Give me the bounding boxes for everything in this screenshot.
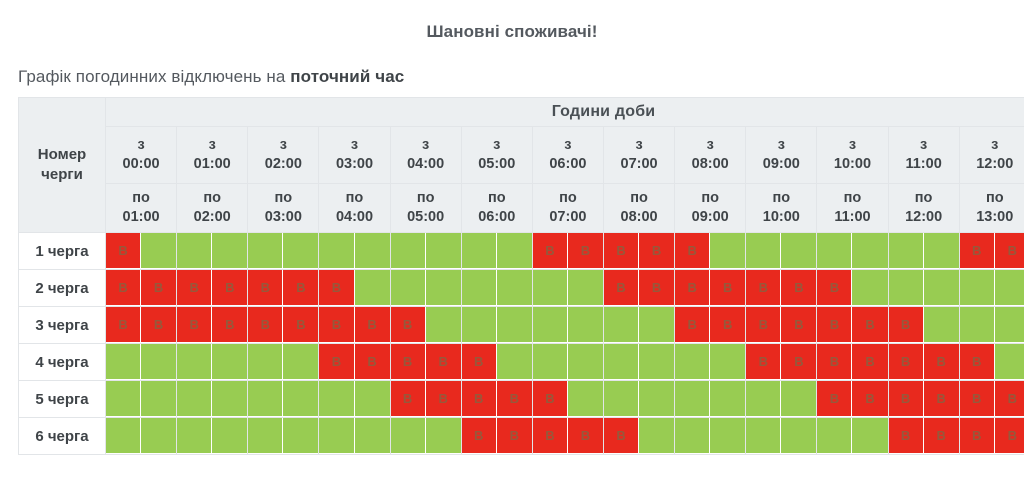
power-on-half-hour-cell[interactable] (639, 418, 674, 454)
hour-cell-q6-h1[interactable] (177, 418, 248, 455)
hour-cell-q4-h3[interactable]: ВВ (319, 344, 390, 381)
half-hour-group (533, 344, 603, 380)
outage-half-hour-cell[interactable]: В (391, 344, 426, 380)
power-on-half-hour-cell[interactable] (781, 418, 816, 454)
hour-cell-q1-h5[interactable] (461, 233, 532, 270)
hour-cell-q5-h10[interactable]: ВВ (817, 381, 888, 418)
hour-cell-q2-h0[interactable]: ВВ (106, 270, 177, 307)
half-hour-group: ВВ (960, 381, 1024, 417)
power-on-half-hour-cell[interactable] (106, 344, 141, 380)
hour-cell-q6-h9[interactable] (746, 418, 817, 455)
outage-half-hour-cell[interactable]: В (781, 307, 816, 343)
hour-cell-q2-h5[interactable] (461, 270, 532, 307)
hour-cell-q5-h1[interactable] (177, 381, 248, 418)
power-on-half-hour-cell[interactable] (391, 270, 426, 306)
power-on-half-hour-cell[interactable] (177, 233, 212, 269)
hour-to-header-11: по12:00 (888, 184, 959, 233)
hour-cell-q6-h12[interactable]: ВВ (959, 418, 1024, 455)
outage-half-hour-cell[interactable]: В (106, 307, 141, 343)
hour-cell-q2-h6[interactable] (532, 270, 603, 307)
power-on-half-hour-cell[interactable] (283, 344, 318, 380)
half-hour-group: ВВ (746, 307, 816, 343)
power-on-half-hour-cell[interactable] (710, 344, 745, 380)
hour-cell-q5-h11[interactable]: ВВ (888, 381, 959, 418)
half-hour-group: ВВ (960, 233, 1024, 269)
to-time: 12:00 (889, 208, 959, 227)
hour-cell-q3-h12[interactable] (959, 307, 1024, 344)
hour-cell-q3-h7[interactable] (603, 307, 674, 344)
half-hour-group: ВВ (817, 307, 887, 343)
outage-half-hour-cell[interactable]: В (426, 344, 461, 380)
hour-cell-q5-h2[interactable] (248, 381, 319, 418)
hour-cell-q1-h11[interactable] (888, 233, 959, 270)
outage-half-hour-cell[interactable]: В (960, 233, 995, 269)
hour-cell-q2-h12[interactable] (959, 270, 1024, 307)
outage-half-hour-cell[interactable]: В (604, 233, 639, 269)
hour-from-header-7: з07:00 (603, 127, 674, 184)
hour-cell-q5-h3[interactable] (319, 381, 390, 418)
outage-half-hour-cell[interactable]: В (889, 381, 924, 417)
half-hour-group: В (889, 307, 959, 343)
power-on-half-hour-cell[interactable] (212, 344, 247, 380)
power-on-half-hour-cell[interactable] (426, 307, 461, 343)
outage-half-hour-cell[interactable]: В (817, 307, 852, 343)
half-hour-group (889, 270, 959, 306)
hour-cell-q1-h7[interactable]: ВВ (603, 233, 674, 270)
outage-half-hour-cell[interactable]: В (639, 270, 674, 306)
table-row: 2 чергаВВВВВВВВВВВВВВВВ (19, 270, 1024, 307)
power-on-half-hour-cell[interactable] (355, 381, 390, 417)
power-on-half-hour-cell[interactable] (924, 233, 959, 269)
outage-half-hour-cell[interactable]: В (462, 381, 497, 417)
power-on-half-hour-cell[interactable] (533, 344, 568, 380)
half-hour-group: ВВ (106, 270, 176, 306)
outage-half-hour-cell[interactable]: В (924, 344, 959, 380)
power-on-half-hour-cell[interactable] (319, 381, 354, 417)
outage-half-hour-cell[interactable]: В (675, 307, 710, 343)
power-on-half-hour-cell[interactable] (141, 233, 176, 269)
hour-from-header-12: з12:00 (959, 127, 1024, 184)
power-on-half-hour-cell[interactable] (212, 418, 247, 454)
power-on-half-hour-cell[interactable] (497, 270, 532, 306)
half-hour-group (533, 270, 603, 306)
outage-half-hour-cell[interactable]: В (746, 307, 781, 343)
power-on-half-hour-cell[interactable] (639, 344, 674, 380)
table-head: Номер черги Години доби з00:00з01:00з02:… (19, 98, 1024, 233)
outage-half-hour-cell[interactable]: В (852, 307, 887, 343)
power-on-half-hour-cell[interactable] (817, 418, 852, 454)
half-hour-group (746, 233, 816, 269)
outage-half-hour-cell[interactable]: В (817, 270, 852, 306)
header-row-group: Номер черги Години доби (19, 98, 1024, 127)
outage-half-hour-cell[interactable]: В (781, 344, 816, 380)
power-on-half-hour-cell[interactable] (604, 381, 639, 417)
hour-cell-q5-h4[interactable]: ВВ (390, 381, 461, 418)
half-hour-group: ВВ (319, 307, 389, 343)
hour-cell-q1-h12[interactable]: ВВ (959, 233, 1024, 270)
power-on-half-hour-cell[interactable] (426, 233, 461, 269)
outage-half-hour-cell[interactable]: В (141, 270, 176, 306)
half-hour-group (391, 233, 461, 269)
hour-cell-q2-h9[interactable]: ВВ (746, 270, 817, 307)
outage-half-hour-cell[interactable]: В (426, 381, 461, 417)
outage-half-hour-cell[interactable]: В (675, 233, 710, 269)
power-on-half-hour-cell[interactable] (497, 307, 532, 343)
outage-half-hour-cell[interactable]: В (212, 307, 247, 343)
outage-half-hour-cell[interactable]: В (960, 418, 995, 454)
power-on-half-hour-cell[interactable] (141, 418, 176, 454)
hour-cell-q1-h6[interactable]: ВВ (532, 233, 603, 270)
outage-half-hour-cell[interactable]: В (248, 270, 283, 306)
outage-half-hour-cell[interactable]: В (391, 381, 426, 417)
outage-half-hour-cell[interactable]: В (355, 307, 390, 343)
outage-half-hour-cell[interactable]: В (497, 418, 532, 454)
hour-cell-q4-h2[interactable] (248, 344, 319, 381)
power-on-half-hour-cell[interactable] (568, 270, 603, 306)
half-hour-group: ВВ (462, 381, 532, 417)
hour-cell-q6-h0[interactable] (106, 418, 177, 455)
outage-half-hour-cell[interactable]: В (604, 418, 639, 454)
power-on-half-hour-cell[interactable] (177, 418, 212, 454)
outage-half-hour-cell[interactable]: В (283, 307, 318, 343)
power-on-half-hour-cell[interactable] (746, 381, 781, 417)
hour-cell-q3-h2[interactable]: ВВ (248, 307, 319, 344)
hour-cell-q4-h12[interactable]: В (959, 344, 1024, 381)
hour-cell-q1-h10[interactable] (817, 233, 888, 270)
hour-cell-q1-h4[interactable] (390, 233, 461, 270)
power-on-half-hour-cell[interactable] (675, 418, 710, 454)
hour-cell-q2-h2[interactable]: ВВ (248, 270, 319, 307)
power-on-half-hour-cell[interactable] (391, 233, 426, 269)
hour-from-header-4: з04:00 (390, 127, 461, 184)
half-hour-group (177, 418, 247, 454)
outage-half-hour-cell[interactable]: В (960, 381, 995, 417)
queue-number-header: Номер черги (19, 98, 106, 233)
power-on-half-hour-cell[interactable] (355, 418, 390, 454)
outage-half-hour-cell[interactable]: В (746, 344, 781, 380)
hour-from-header-0: з00:00 (106, 127, 177, 184)
to-prefix: по (675, 189, 745, 208)
hour-cell-q6-h7[interactable]: В (603, 418, 674, 455)
power-on-half-hour-cell[interactable] (106, 381, 141, 417)
power-on-half-hour-cell[interactable] (852, 418, 887, 454)
power-on-half-hour-cell[interactable] (462, 233, 497, 269)
hour-from-header-9: з09:00 (746, 127, 817, 184)
power-on-half-hour-cell[interactable] (995, 270, 1024, 306)
hour-cell-q5-h9[interactable] (746, 381, 817, 418)
half-hour-group (248, 381, 318, 417)
hour-cell-q5-h6[interactable]: В (532, 381, 603, 418)
outage-half-hour-cell[interactable]: В (889, 307, 924, 343)
power-on-half-hour-cell[interactable] (817, 233, 852, 269)
power-on-half-hour-cell[interactable] (177, 344, 212, 380)
power-on-half-hour-cell[interactable] (710, 233, 745, 269)
hour-cell-q5-h0[interactable] (106, 381, 177, 418)
from-prefix: з (960, 136, 1024, 155)
power-on-half-hour-cell[interactable] (355, 233, 390, 269)
hour-cell-q5-h5[interactable]: ВВ (461, 381, 532, 418)
hour-cell-q3-h4[interactable]: В (390, 307, 461, 344)
hour-cell-q3-h8[interactable]: ВВ (675, 307, 746, 344)
from-prefix: з (248, 136, 318, 155)
outage-half-hour-cell[interactable]: В (106, 270, 141, 306)
outage-half-hour-cell[interactable]: В (177, 307, 212, 343)
outage-half-hour-cell[interactable]: В (177, 270, 212, 306)
half-hour-group (391, 418, 461, 454)
to-prefix: по (391, 189, 461, 208)
power-on-half-hour-cell[interactable] (746, 418, 781, 454)
power-on-half-hour-cell[interactable] (426, 418, 461, 454)
power-on-half-hour-cell[interactable] (355, 270, 390, 306)
power-on-half-hour-cell[interactable] (710, 381, 745, 417)
outage-half-hour-cell[interactable]: В (391, 307, 426, 343)
outage-half-hour-cell[interactable]: В (746, 270, 781, 306)
power-on-half-hour-cell[interactable] (391, 418, 426, 454)
power-on-half-hour-cell[interactable] (781, 381, 816, 417)
from-time: 08:00 (675, 155, 745, 174)
outage-half-hour-cell[interactable]: В (781, 270, 816, 306)
half-hour-group: ВВ (746, 344, 816, 380)
hour-cell-q3-h0[interactable]: ВВ (106, 307, 177, 344)
outage-half-hour-cell[interactable]: В (924, 418, 959, 454)
outage-half-hour-cell[interactable]: В (462, 344, 497, 380)
power-on-half-hour-cell[interactable] (924, 270, 959, 306)
outage-half-hour-cell[interactable]: В (675, 270, 710, 306)
power-on-half-hour-cell[interactable] (533, 270, 568, 306)
hour-cell-q6-h8[interactable] (675, 418, 746, 455)
outage-half-hour-cell[interactable]: В (533, 418, 568, 454)
hour-cell-q3-h11[interactable]: В (888, 307, 959, 344)
outage-half-hour-cell[interactable]: В (710, 307, 745, 343)
power-on-half-hour-cell[interactable] (319, 233, 354, 269)
to-time: 07:00 (533, 208, 603, 227)
hour-cell-q3-h6[interactable] (532, 307, 603, 344)
power-on-half-hour-cell[interactable] (924, 307, 959, 343)
outage-schedule-page: Шановні споживачі! Графік погодинних від… (0, 0, 1024, 485)
power-on-half-hour-cell[interactable] (568, 344, 603, 380)
hour-cell-q3-h3[interactable]: ВВ (319, 307, 390, 344)
half-hour-group: ВВ (675, 270, 745, 306)
hour-cell-q2-h8[interactable]: ВВ (675, 270, 746, 307)
hour-cell-q1-h8[interactable]: В (675, 233, 746, 270)
hour-cell-q4-h11[interactable]: ВВ (888, 344, 959, 381)
power-on-half-hour-cell[interactable] (889, 233, 924, 269)
half-hour-group (604, 344, 674, 380)
power-on-half-hour-cell[interactable] (781, 233, 816, 269)
power-on-half-hour-cell[interactable] (248, 418, 283, 454)
outage-half-hour-cell[interactable]: В (852, 344, 887, 380)
hour-from-header-8: з08:00 (675, 127, 746, 184)
schedule-caption-prefix: Графік погодинних відключень на (18, 67, 290, 86)
from-time: 01:00 (177, 155, 247, 174)
hour-cell-q3-h9[interactable]: ВВ (746, 307, 817, 344)
hour-cell-q6-h2[interactable] (248, 418, 319, 455)
hour-cell-q4-h1[interactable] (177, 344, 248, 381)
outage-half-hour-cell[interactable]: В (212, 270, 247, 306)
hour-cell-q4-h9[interactable]: ВВ (746, 344, 817, 381)
power-on-half-hour-cell[interactable] (212, 381, 247, 417)
half-hour-group: В (106, 233, 176, 269)
outage-half-hour-cell[interactable]: В (889, 344, 924, 380)
power-on-half-hour-cell[interactable] (639, 381, 674, 417)
outage-half-hour-cell[interactable]: В (960, 344, 995, 380)
half-hour-group (960, 307, 1024, 343)
outage-half-hour-cell[interactable]: В (533, 233, 568, 269)
half-hour-group (248, 418, 318, 454)
power-on-half-hour-cell[interactable] (426, 270, 461, 306)
hour-cell-q6-h6[interactable]: ВВ (532, 418, 603, 455)
hour-cell-q4-h7[interactable] (603, 344, 674, 381)
from-time: 11:00 (889, 155, 959, 174)
power-on-half-hour-cell[interactable] (675, 344, 710, 380)
to-time: 05:00 (391, 208, 461, 227)
half-hour-group (604, 381, 674, 417)
hour-cell-q4-h0[interactable] (106, 344, 177, 381)
half-hour-group: ВВ (889, 418, 959, 454)
power-on-half-hour-cell[interactable] (995, 307, 1024, 343)
power-on-half-hour-cell[interactable] (852, 270, 887, 306)
to-prefix: по (817, 189, 887, 208)
power-on-half-hour-cell[interactable] (568, 381, 603, 417)
half-hour-group (106, 381, 176, 417)
outage-half-hour-cell[interactable]: В (319, 270, 354, 306)
power-on-half-hour-cell[interactable] (248, 381, 283, 417)
hour-cell-q6-h11[interactable]: ВВ (888, 418, 959, 455)
power-on-half-hour-cell[interactable] (462, 307, 497, 343)
power-on-half-hour-cell[interactable] (283, 381, 318, 417)
header-row-from: з00:00з01:00з02:00з03:00з04:00з05:00з06:… (19, 127, 1024, 184)
power-on-half-hour-cell[interactable] (283, 233, 318, 269)
hour-cell-q4-h8[interactable] (675, 344, 746, 381)
power-on-half-hour-cell[interactable] (141, 381, 176, 417)
hour-cell-q1-h3[interactable] (319, 233, 390, 270)
from-time: 09:00 (746, 155, 816, 174)
outage-half-hour-cell[interactable]: В (319, 344, 354, 380)
outage-half-hour-cell[interactable]: В (355, 344, 390, 380)
power-on-half-hour-cell[interactable] (852, 233, 887, 269)
hour-cell-q5-h7[interactable] (603, 381, 674, 418)
hour-cell-q4-h5[interactable]: В (461, 344, 532, 381)
outage-half-hour-cell[interactable]: В (533, 381, 568, 417)
hour-cell-q2-h4[interactable] (390, 270, 461, 307)
outage-half-hour-cell[interactable]: В (462, 418, 497, 454)
from-prefix: з (106, 136, 176, 155)
power-on-half-hour-cell[interactable] (462, 270, 497, 306)
hour-to-header-7: по08:00 (603, 184, 674, 233)
hour-cell-q2-h1[interactable]: ВВ (177, 270, 248, 307)
power-on-half-hour-cell[interactable] (141, 344, 176, 380)
power-on-half-hour-cell[interactable] (639, 307, 674, 343)
hour-cell-q2-h10[interactable]: В (817, 270, 888, 307)
hour-to-header-6: по07:00 (532, 184, 603, 233)
hour-cell-q5-h12[interactable]: ВВ (959, 381, 1024, 418)
power-on-half-hour-cell[interactable] (889, 270, 924, 306)
power-on-half-hour-cell[interactable] (533, 307, 568, 343)
half-hour-group (319, 233, 389, 269)
power-on-half-hour-cell[interactable] (604, 307, 639, 343)
outage-half-hour-cell[interactable]: В (710, 270, 745, 306)
power-on-half-hour-cell[interactable] (248, 233, 283, 269)
outage-half-hour-cell[interactable]: В (995, 418, 1024, 454)
half-hour-group: В (675, 233, 745, 269)
power-on-half-hour-cell[interactable] (960, 270, 995, 306)
outage-half-hour-cell[interactable]: В (995, 233, 1024, 269)
hour-cell-q2-h7[interactable]: ВВ (603, 270, 674, 307)
outage-half-hour-cell[interactable]: В (852, 381, 887, 417)
outage-half-hour-cell[interactable]: В (604, 270, 639, 306)
outage-half-hour-cell[interactable]: В (568, 233, 603, 269)
outage-half-hour-cell[interactable]: В (924, 381, 959, 417)
hour-cell-q6-h10[interactable] (817, 418, 888, 455)
half-hour-group: ВВ (533, 233, 603, 269)
outage-half-hour-cell[interactable]: В (283, 270, 318, 306)
outage-half-hour-cell[interactable]: В (141, 307, 176, 343)
power-on-half-hour-cell[interactable] (319, 418, 354, 454)
half-hour-group: ВВ (817, 344, 887, 380)
power-on-half-hour-cell[interactable] (746, 233, 781, 269)
hour-cell-q1-h9[interactable] (746, 233, 817, 270)
hour-cell-q3-h10[interactable]: ВВ (817, 307, 888, 344)
power-on-half-hour-cell[interactable] (675, 381, 710, 417)
hour-cell-q1-h2[interactable] (248, 233, 319, 270)
outage-half-hour-cell[interactable]: В (639, 233, 674, 269)
hour-cell-q6-h5[interactable]: ВВ (461, 418, 532, 455)
outage-half-hour-cell[interactable]: В (106, 233, 141, 269)
hour-cell-q2-h11[interactable] (888, 270, 959, 307)
outage-half-hour-cell[interactable]: В (497, 381, 532, 417)
hour-cell-q6-h3[interactable] (319, 418, 390, 455)
power-on-half-hour-cell[interactable] (568, 307, 603, 343)
power-on-half-hour-cell[interactable] (212, 233, 247, 269)
schedule-caption: Графік погодинних відключень на поточний… (0, 42, 1024, 87)
hour-cell-q4-h10[interactable]: ВВ (817, 344, 888, 381)
from-time: 03:00 (319, 155, 389, 174)
hour-cell-q6-h4[interactable] (390, 418, 461, 455)
half-hour-group: ВВ (106, 307, 176, 343)
hour-cell-q4-h6[interactable] (532, 344, 603, 381)
hour-cell-q5-h8[interactable] (675, 381, 746, 418)
hour-cell-q1-h1[interactable] (177, 233, 248, 270)
hour-cell-q4-h4[interactable]: ВВ (390, 344, 461, 381)
power-on-half-hour-cell[interactable] (497, 233, 532, 269)
power-on-half-hour-cell[interactable] (960, 307, 995, 343)
power-on-half-hour-cell[interactable] (106, 418, 141, 454)
power-on-half-hour-cell[interactable] (497, 344, 532, 380)
half-hour-group (106, 344, 176, 380)
power-on-half-hour-cell[interactable] (995, 344, 1024, 380)
power-on-half-hour-cell[interactable] (248, 344, 283, 380)
hour-cell-q3-h5[interactable] (461, 307, 532, 344)
queue-header-line1: Номер (38, 146, 86, 163)
to-time: 01:00 (106, 208, 176, 227)
outage-half-hour-cell[interactable]: В (817, 344, 852, 380)
power-on-half-hour-cell[interactable] (177, 381, 212, 417)
power-on-half-hour-cell[interactable] (283, 418, 318, 454)
power-on-half-hour-cell[interactable] (604, 344, 639, 380)
hour-cell-q3-h1[interactable]: ВВ (177, 307, 248, 344)
outage-half-hour-cell[interactable]: В (319, 307, 354, 343)
outage-half-hour-cell[interactable]: В (889, 418, 924, 454)
hour-cell-q2-h3[interactable]: В (319, 270, 390, 307)
outage-half-hour-cell[interactable]: В (248, 307, 283, 343)
hour-cell-q1-h0[interactable]: В (106, 233, 177, 270)
hour-from-header-11: з11:00 (888, 127, 959, 184)
power-on-half-hour-cell[interactable] (710, 418, 745, 454)
outage-half-hour-cell[interactable]: В (817, 381, 852, 417)
outage-half-hour-cell[interactable]: В (568, 418, 603, 454)
outage-half-hour-cell[interactable]: В (995, 381, 1024, 417)
to-prefix: по (533, 189, 603, 208)
